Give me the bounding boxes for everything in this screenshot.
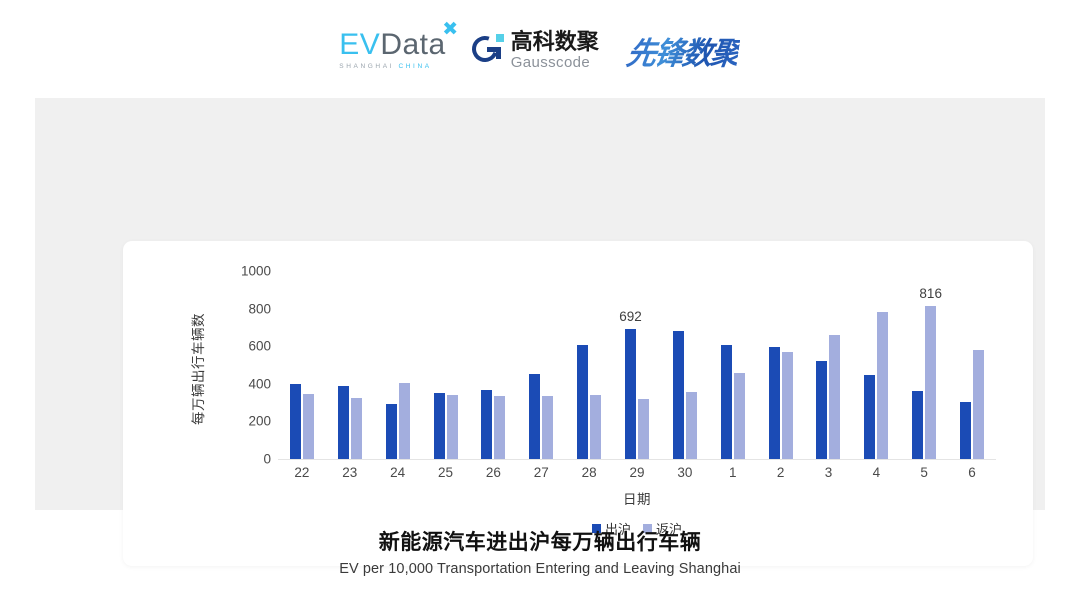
x-axis-title: 日期	[278, 488, 996, 508]
bar-chuhu-22[interactable]	[290, 384, 301, 459]
logo-bar: EVData ✖ SHANGHAI CHINA 高科数聚 Gausscode 先…	[0, 22, 1080, 78]
gausscode-en-name: Gausscode	[511, 55, 599, 70]
caption-title: 新能源汽车进出沪每万辆出行车辆	[0, 530, 1080, 556]
bar-chuhu-3[interactable]	[816, 361, 827, 459]
bar-fanhu-2[interactable]	[782, 352, 793, 459]
bar-wrapper	[864, 375, 875, 459]
bar-wrapper	[721, 345, 732, 459]
bar-chart: 每万辆出行车辆数 02004006008001000 692816 222324…	[123, 241, 1033, 566]
bar-group: 692	[613, 271, 661, 459]
bar-group	[709, 271, 757, 459]
bar-fanhu-22[interactable]	[303, 394, 314, 459]
bar-fanhu-30[interactable]	[686, 392, 697, 459]
bar-wrapper	[673, 331, 684, 459]
x-axis-tick-label: 27	[534, 465, 549, 480]
bar-wrapper	[447, 395, 458, 459]
bar-wrapper	[351, 398, 362, 459]
bar-group	[326, 271, 374, 459]
bar-wrapper	[494, 396, 505, 459]
bar-wrapper	[960, 402, 971, 459]
bar-fanhu-26[interactable]	[494, 396, 505, 459]
bar-chuhu-28[interactable]	[577, 345, 588, 459]
bar-chuhu-23[interactable]	[338, 386, 349, 459]
bar-chuhu-24[interactable]	[386, 404, 397, 459]
bar-fanhu-29[interactable]	[638, 399, 649, 459]
bar-wrapper	[386, 404, 397, 459]
y-axis-tick-label: 1000	[241, 264, 271, 279]
chart-card: 每万辆出行车辆数 02004006008001000 692816 222324…	[123, 241, 1033, 566]
bar-fanhu-4[interactable]	[877, 312, 888, 459]
bar-wrapper	[912, 391, 923, 459]
bar-wrapper	[590, 395, 601, 459]
bar-fanhu-25[interactable]	[447, 395, 458, 459]
y-axis-tick-label: 200	[248, 414, 271, 429]
bar-chuhu-4[interactable]	[864, 375, 875, 459]
gausscode-mark-icon	[472, 34, 504, 66]
evdata-tagline-city: SHANGHAI	[339, 63, 398, 70]
bar-group: 816	[900, 271, 948, 459]
bar-group	[469, 271, 517, 459]
y-axis-title: 每万辆出行车辆数	[187, 279, 207, 459]
bar-fanhu-28[interactable]	[590, 395, 601, 459]
caption-subtitle: EV per 10,000 Transportation Entering an…	[0, 561, 1080, 577]
bar-wrapper	[734, 373, 745, 459]
x-axis-tick-label: 22	[294, 465, 309, 480]
y-axis-tick-label: 0	[263, 452, 271, 467]
evdata-data-text: Data	[380, 28, 445, 61]
evdata-ev-text: EV	[339, 28, 380, 61]
x-axis-tick-label: 5	[920, 465, 928, 480]
plot-area: 692816	[278, 271, 996, 459]
bar-wrapper	[399, 383, 410, 459]
bar-fanhu-6[interactable]	[973, 350, 984, 459]
bar-wrapper	[303, 394, 314, 459]
x-axis-tick-label: 3	[825, 465, 833, 480]
x-spark-icon: ✖	[442, 20, 458, 39]
x-axis-tick-label: 29	[629, 465, 644, 480]
bar-wrapper	[686, 392, 697, 459]
chart-outer-panel: 每万辆出行车辆数 02004006008001000 692816 222324…	[35, 98, 1045, 510]
y-axis-ticks: 02004006008001000	[227, 271, 271, 459]
bar-chuhu-5[interactable]	[912, 391, 923, 459]
caption-block: 新能源汽车进出沪每万辆出行车辆 EV per 10,000 Transporta…	[0, 530, 1080, 577]
bar-chuhu-1[interactable]	[721, 345, 732, 459]
bar-fanhu-27[interactable]	[542, 396, 553, 459]
y-axis-tick-label: 400	[248, 376, 271, 391]
bar-wrapper	[481, 390, 492, 459]
bar-wrapper	[290, 384, 301, 459]
bar-group	[661, 271, 709, 459]
bar-group	[757, 271, 805, 459]
bar-chuhu-26[interactable]	[481, 390, 492, 459]
x-axis-tick-label: 4	[873, 465, 881, 480]
bar-fanhu-23[interactable]	[351, 398, 362, 459]
bar-fanhu-5[interactable]	[925, 306, 936, 459]
bar-wrapper	[877, 312, 888, 459]
evdata-tagline: SHANGHAI CHINA	[339, 64, 431, 71]
bar-chuhu-27[interactable]	[529, 374, 540, 459]
bar-wrapper	[434, 393, 445, 459]
bar-wrapper	[973, 350, 984, 459]
bar-group	[805, 271, 853, 459]
bar-chuhu-29[interactable]	[625, 329, 636, 459]
y-axis-tick-label: 600	[248, 339, 271, 354]
x-axis-tick-label: 6	[968, 465, 976, 480]
bar-value-label: 816	[919, 286, 942, 301]
bar-group	[565, 271, 613, 459]
y-axis-tick-label: 800	[248, 301, 271, 316]
x-axis-tick-label: 26	[486, 465, 501, 480]
gausscode-bar-vertical-shape	[496, 47, 501, 59]
gausscode-cn-name: 高科数聚	[511, 31, 599, 53]
x-axis-tick-label: 2	[777, 465, 785, 480]
bar-wrapper: 692	[625, 329, 636, 459]
bar-group	[278, 271, 326, 459]
bar-wrapper	[577, 345, 588, 459]
gausscode-square-shape	[496, 34, 504, 42]
evdata-tagline-country: CHINA	[398, 63, 431, 70]
bar-wrapper	[529, 374, 540, 459]
evdata-logo: EVData ✖ SHANGHAI CHINA	[339, 30, 445, 71]
bar-group	[948, 271, 996, 459]
x-axis-tick-label: 30	[677, 465, 692, 480]
bar-wrapper	[816, 361, 827, 459]
x-axis-tick-label: 1	[729, 465, 737, 480]
x-axis-ticks: 222324252627282930123456	[278, 465, 996, 485]
bar-group	[517, 271, 565, 459]
bar-chuhu-6[interactable]	[960, 402, 971, 459]
bar-chuhu-2[interactable]	[769, 347, 780, 459]
x-axis-tick-label: 24	[390, 465, 405, 480]
gausscode-logo: 高科数聚 Gausscode	[472, 31, 599, 70]
bar-wrapper	[782, 352, 793, 459]
bar-chuhu-25[interactable]	[434, 393, 445, 459]
x-axis-tick-label: 23	[342, 465, 357, 480]
bar-wrapper	[829, 335, 840, 459]
x-axis-tick-label: 25	[438, 465, 453, 480]
bar-wrapper: 816	[925, 306, 936, 459]
bar-fanhu-24[interactable]	[399, 383, 410, 459]
bar-chuhu-30[interactable]	[673, 331, 684, 459]
xianfeng-logo: 先锋数聚	[624, 28, 742, 73]
bar-wrapper	[769, 347, 780, 459]
bar-group	[374, 271, 422, 459]
evdata-wordmark: EVData ✖	[339, 30, 445, 60]
bar-wrapper	[638, 399, 649, 459]
x-axis-tick-label: 28	[582, 465, 597, 480]
bar-fanhu-1[interactable]	[734, 373, 745, 459]
bar-wrapper	[542, 396, 553, 459]
bar-fanhu-3[interactable]	[829, 335, 840, 459]
bar-wrapper	[338, 386, 349, 459]
gausscode-text-block: 高科数聚 Gausscode	[511, 31, 599, 70]
bar-group	[422, 271, 470, 459]
bar-group	[852, 271, 900, 459]
bar-value-label: 692	[619, 309, 642, 324]
